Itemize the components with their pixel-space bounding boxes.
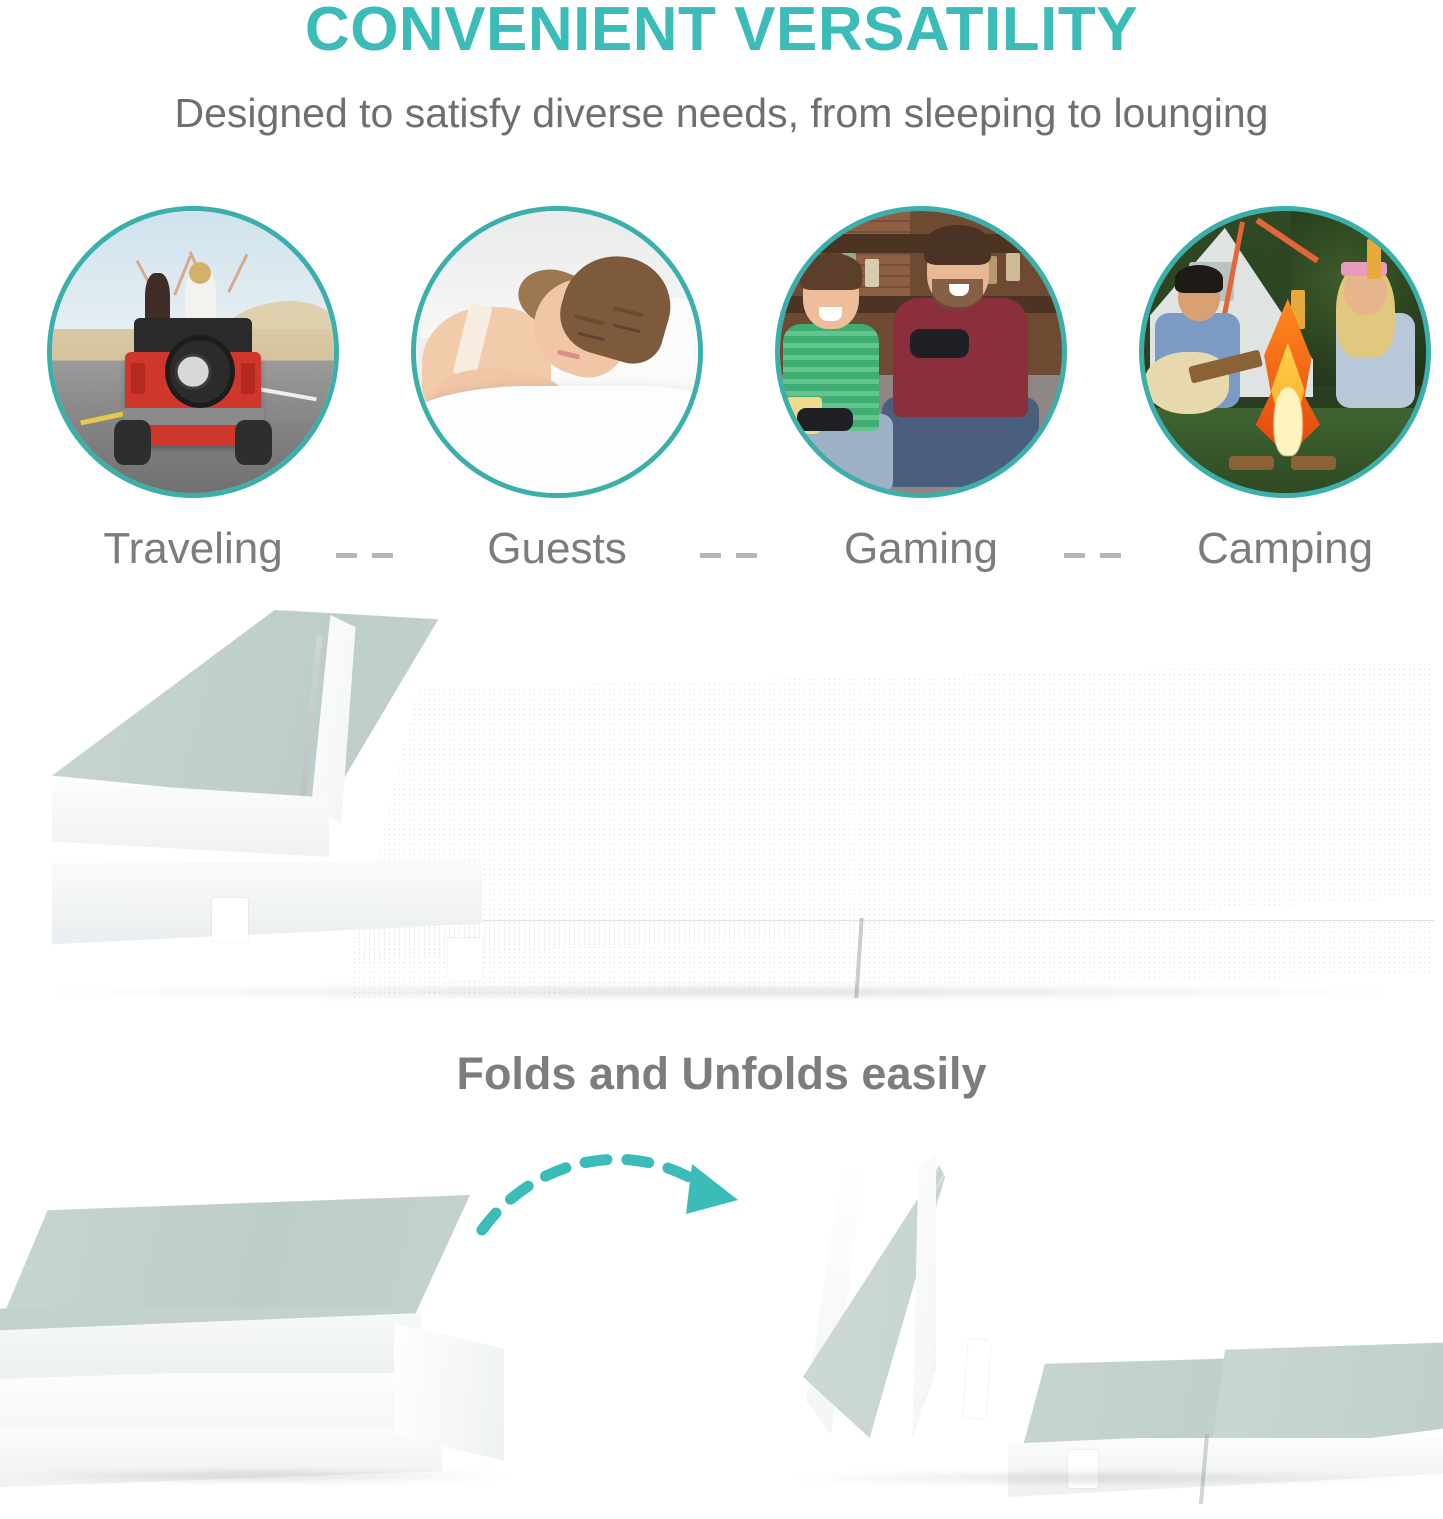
mattress-open-panels <box>352 662 1434 962</box>
page-subtitle: Designed to satisfy diverse needs, from … <box>0 90 1443 137</box>
traveling-photo <box>52 211 334 493</box>
guests-photo-circle <box>411 206 703 498</box>
stack-drop-shadow <box>0 1468 520 1484</box>
mattress-base-side <box>52 860 482 946</box>
use-case-camping[interactable]: Camping <box>1120 196 1443 596</box>
hero-drop-shadow <box>40 985 1400 999</box>
mattress-folded-panel <box>52 610 472 950</box>
guests-photo <box>416 211 698 493</box>
camping-photo <box>1144 211 1426 493</box>
traveling-photo-circle <box>47 206 339 498</box>
use-case-gaming[interactable]: Gaming <box>756 196 1086 596</box>
header: CONVENIENT VERSATILITY Designed to satis… <box>0 0 1443 160</box>
folded-mattress-stack <box>0 1195 530 1495</box>
folds-caption: Folds and Unfolds easily <box>0 1048 1443 1100</box>
use-case-label-camping: Camping <box>1120 524 1443 574</box>
hero-product-image <box>0 600 1443 1030</box>
use-case-row: Traveling Guests <box>0 196 1443 596</box>
partially-folded-mattress <box>770 1150 1443 1500</box>
use-case-guests[interactable]: Guests <box>392 196 722 596</box>
use-case-label-traveling: Traveling <box>28 524 358 574</box>
page-title: CONVENIENT VERSATILITY <box>0 0 1443 65</box>
camping-photo-circle <box>1139 206 1431 498</box>
arrow-head-icon <box>686 1164 738 1214</box>
tentfold-drop-shadow <box>780 1470 1420 1486</box>
mattress-top-surface <box>352 662 1434 962</box>
gaming-photo-circle <box>775 206 1067 498</box>
gaming-photo <box>780 211 1062 493</box>
mattress-handle-tab <box>212 898 248 942</box>
use-case-label-gaming: Gaming <box>756 524 1086 574</box>
use-case-label-guests: Guests <box>392 524 722 574</box>
use-case-traveling[interactable]: Traveling <box>28 196 358 596</box>
